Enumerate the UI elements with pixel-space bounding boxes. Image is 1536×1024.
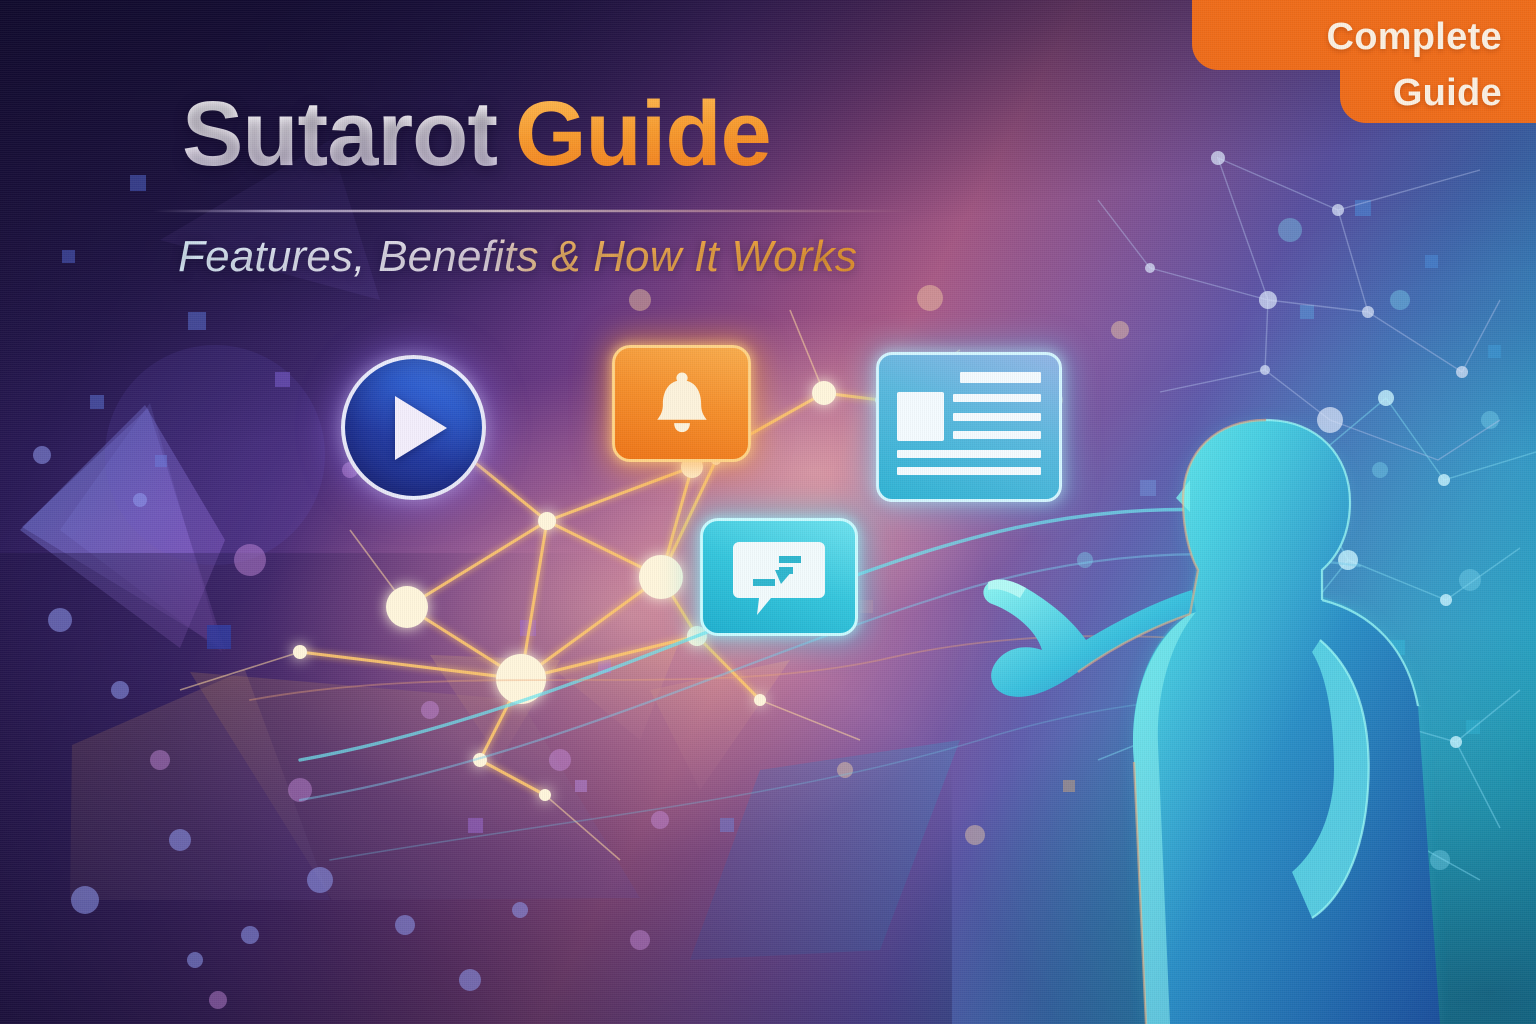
hero-banner: SutarotGuide Features, Benefits & How It… bbox=[0, 0, 1536, 1024]
status-badge: Complete Guide bbox=[1176, 0, 1536, 128]
play-triangle bbox=[395, 396, 447, 460]
title-accent: Guide bbox=[515, 83, 771, 185]
doc-heading-bar bbox=[960, 372, 1041, 383]
doc-body-row bbox=[897, 392, 1041, 441]
doc-thumbnail bbox=[897, 392, 944, 441]
article-card-icon[interactable] bbox=[876, 352, 1062, 502]
badge-line-1: Complete bbox=[1326, 18, 1502, 56]
page-subtitle: Features, Benefits & How It Works bbox=[178, 232, 857, 282]
title-divider bbox=[152, 210, 912, 212]
chat-bubble-icon[interactable] bbox=[700, 518, 858, 636]
badge-line-2: Guide bbox=[1393, 74, 1502, 112]
doc-text-lines bbox=[953, 392, 1041, 441]
play-button-icon[interactable] bbox=[341, 355, 486, 500]
doc-footer-lines bbox=[897, 450, 1041, 475]
bell-icon[interactable] bbox=[612, 345, 751, 462]
title-primary: Sutarot bbox=[182, 83, 497, 185]
page-title: SutarotGuide bbox=[182, 88, 771, 180]
bell-glyph bbox=[646, 368, 718, 440]
chat-glyph bbox=[731, 536, 827, 618]
